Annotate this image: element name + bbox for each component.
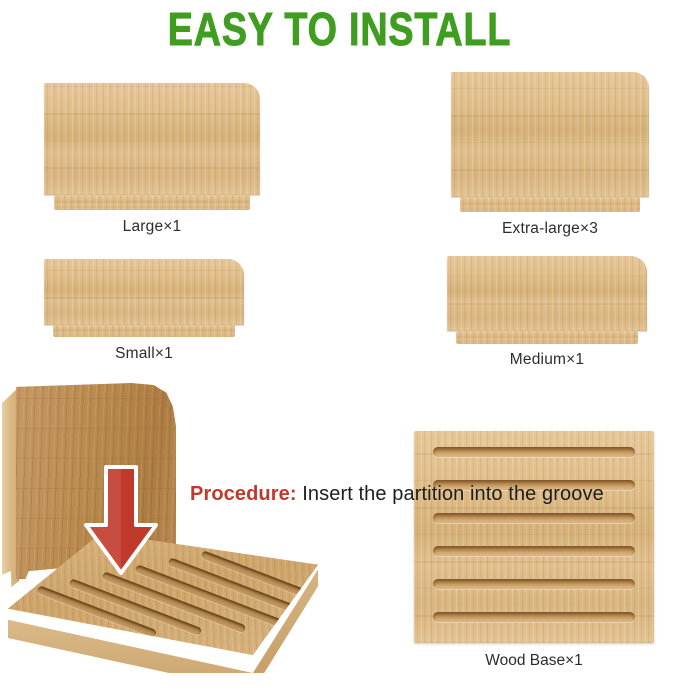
wood-base-groove (433, 612, 635, 622)
partition-body (44, 259, 244, 325)
wood-base-groove (433, 546, 635, 556)
partition-foot (456, 331, 638, 344)
part-medium: Medium×1 (447, 256, 647, 366)
part-large: Large×1 (44, 83, 260, 238)
partition-foot (54, 195, 251, 210)
part-label-extra-large: Extra-large×3 (451, 220, 649, 238)
procedure-body: Insert the partition into the groove (297, 483, 604, 505)
part-label-large: Large×1 (44, 218, 260, 236)
wood-base (414, 431, 654, 643)
wood-base-label: Wood Base×1 (414, 652, 654, 670)
page-title: EASY TO INSTALL (61, 4, 618, 54)
partition-body (447, 256, 647, 331)
partition-foot (53, 325, 235, 337)
part-small: Small×1 (44, 259, 244, 364)
partition-body (44, 83, 260, 195)
partition-foot (460, 197, 640, 212)
wood-base-groove (433, 447, 635, 457)
wood-base-board (414, 431, 654, 643)
part-extra-large: Extra-large×3 (451, 72, 649, 242)
procedure-keyword: Procedure: (190, 483, 297, 505)
part-label-medium: Medium×1 (447, 351, 647, 369)
wood-base-groove (433, 579, 635, 589)
infographic-page: EASY TO INSTALL Large×1 Extra-large×3 Sm… (0, 0, 679, 695)
wood-base-groove (433, 513, 635, 523)
down-arrow-icon (76, 463, 166, 578)
part-label-small: Small×1 (44, 345, 244, 363)
procedure-text: Procedure: Insert the partition into the… (190, 481, 610, 508)
partition-body (451, 72, 649, 197)
